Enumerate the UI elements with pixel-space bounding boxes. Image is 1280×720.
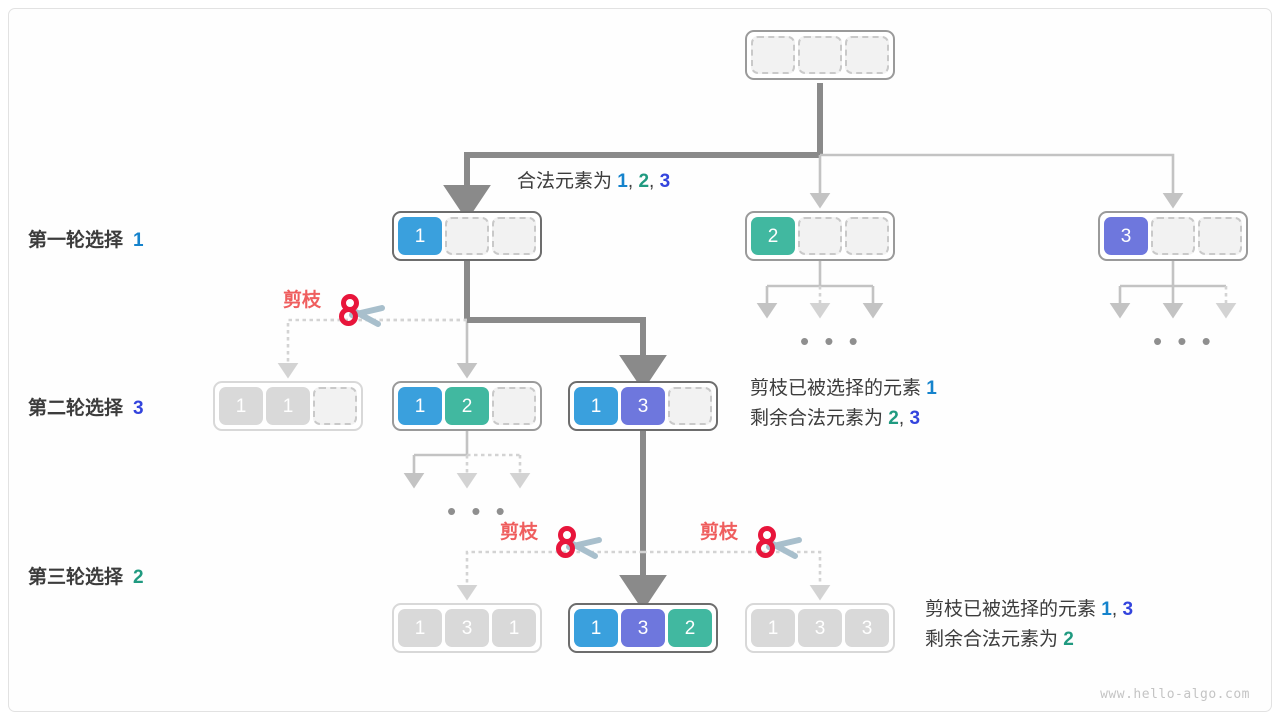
array-node-r2c[interactable]: 13 (568, 381, 718, 431)
array-node-r2a[interactable]: 11 (213, 381, 363, 431)
array-cell (751, 36, 795, 74)
prune-label: 剪枝 (700, 517, 738, 544)
array-cell: 3 (621, 609, 665, 647)
array-node-r1a[interactable]: 1 (392, 211, 542, 261)
note-row2-pruning: 剪枝已被选择的元素 1 剩余合法元素为 2, 3 (750, 374, 937, 434)
array-cell (1151, 217, 1195, 255)
diagram-canvas: 1 2 3 11 12 13 131 132 133 第一轮选择1 第二轮选择3… (0, 0, 1280, 720)
array-cell: 1 (492, 609, 536, 647)
array-node-r3b[interactable]: 132 (568, 603, 718, 653)
array-cell: 1 (398, 387, 442, 425)
row-label-value: 2 (133, 567, 144, 588)
array-cell: 1 (398, 217, 442, 255)
prune-label: 剪枝 (283, 285, 321, 312)
array-cell (492, 217, 536, 255)
note-text: 合法元素为 (517, 171, 612, 192)
row-label-text: 第二轮选择 (28, 398, 123, 419)
note-row2-line1: 剪枝已被选择的元素 1 (750, 374, 937, 404)
note-value: 3 (1122, 599, 1133, 620)
note-text: 剩余合法元素为 (750, 408, 883, 429)
array-cell (845, 217, 889, 255)
note-comma: , (628, 171, 633, 192)
array-cell: 1 (574, 387, 618, 425)
array-cell: 1 (751, 609, 795, 647)
array-cell (668, 387, 712, 425)
array-cell: 1 (219, 387, 263, 425)
scissors-icon (747, 520, 807, 572)
array-node-r1b[interactable]: 2 (745, 211, 895, 261)
array-cell: 1 (266, 387, 310, 425)
note-value: 1 (617, 171, 628, 192)
note-text: 剪枝已被选择的元素 (925, 599, 1096, 620)
array-cell: 2 (668, 609, 712, 647)
note-legal-elements: 合法元素为 1, 2, 3 (517, 167, 670, 197)
row-label-round-3: 第三轮选择2 (28, 562, 144, 589)
row-label-round-1: 第一轮选择1 (28, 225, 144, 252)
note-text: 剪枝已被选择的元素 (750, 378, 921, 399)
array-cell: 3 (621, 387, 665, 425)
note-value: 2 (1063, 629, 1074, 650)
note-comma: , (649, 171, 654, 192)
note-row3-pruning: 剪枝已被选择的元素 1, 3 剩余合法元素为 2 (925, 595, 1133, 655)
array-cell (1198, 217, 1242, 255)
note-value: 2 (888, 408, 899, 429)
watermark: www.hello-algo.com (1100, 687, 1250, 702)
note-row3-line2: 剩余合法元素为 2 (925, 625, 1133, 655)
array-node-r1c[interactable]: 3 (1098, 211, 1248, 261)
note-row3-line1: 剪枝已被选择的元素 1, 3 (925, 595, 1133, 625)
note-value: 3 (660, 171, 671, 192)
note-value: 1 (926, 378, 937, 399)
note-value: 2 (638, 171, 649, 192)
array-node-r3c[interactable]: 133 (745, 603, 895, 653)
array-cell: 3 (798, 609, 842, 647)
row-label-value: 1 (133, 230, 144, 251)
note-comma: , (1112, 599, 1117, 620)
row-label-text: 第一轮选择 (28, 230, 123, 251)
ellipsis-marker: • • • (800, 328, 862, 354)
array-cell: 1 (574, 609, 618, 647)
row-label-text: 第三轮选择 (28, 567, 123, 588)
ellipsis-marker: • • • (1153, 328, 1215, 354)
note-value: 3 (909, 408, 920, 429)
array-cell (445, 217, 489, 255)
array-cell: 3 (845, 609, 889, 647)
note-row2-line2: 剩余合法元素为 2, 3 (750, 404, 937, 434)
array-cell: 1 (398, 609, 442, 647)
array-node-r2b[interactable]: 12 (392, 381, 542, 431)
array-cell (845, 36, 889, 74)
array-cell (313, 387, 357, 425)
scissors-icon (330, 288, 390, 340)
ellipsis-marker: • • • (447, 498, 509, 524)
array-node-r3a[interactable]: 131 (392, 603, 542, 653)
row-label-round-2: 第二轮选择3 (28, 393, 144, 420)
array-node-root[interactable] (745, 30, 895, 80)
note-comma: , (899, 408, 904, 429)
array-cell: 2 (445, 387, 489, 425)
array-cell (798, 36, 842, 74)
note-value: 1 (1101, 599, 1112, 620)
row-label-value: 3 (133, 398, 144, 419)
array-cell: 3 (445, 609, 489, 647)
array-cell: 2 (751, 217, 795, 255)
array-cell (492, 387, 536, 425)
note-text: 剩余合法元素为 (925, 629, 1058, 650)
array-cell: 3 (1104, 217, 1148, 255)
array-cell (798, 217, 842, 255)
scissors-icon (547, 520, 607, 572)
